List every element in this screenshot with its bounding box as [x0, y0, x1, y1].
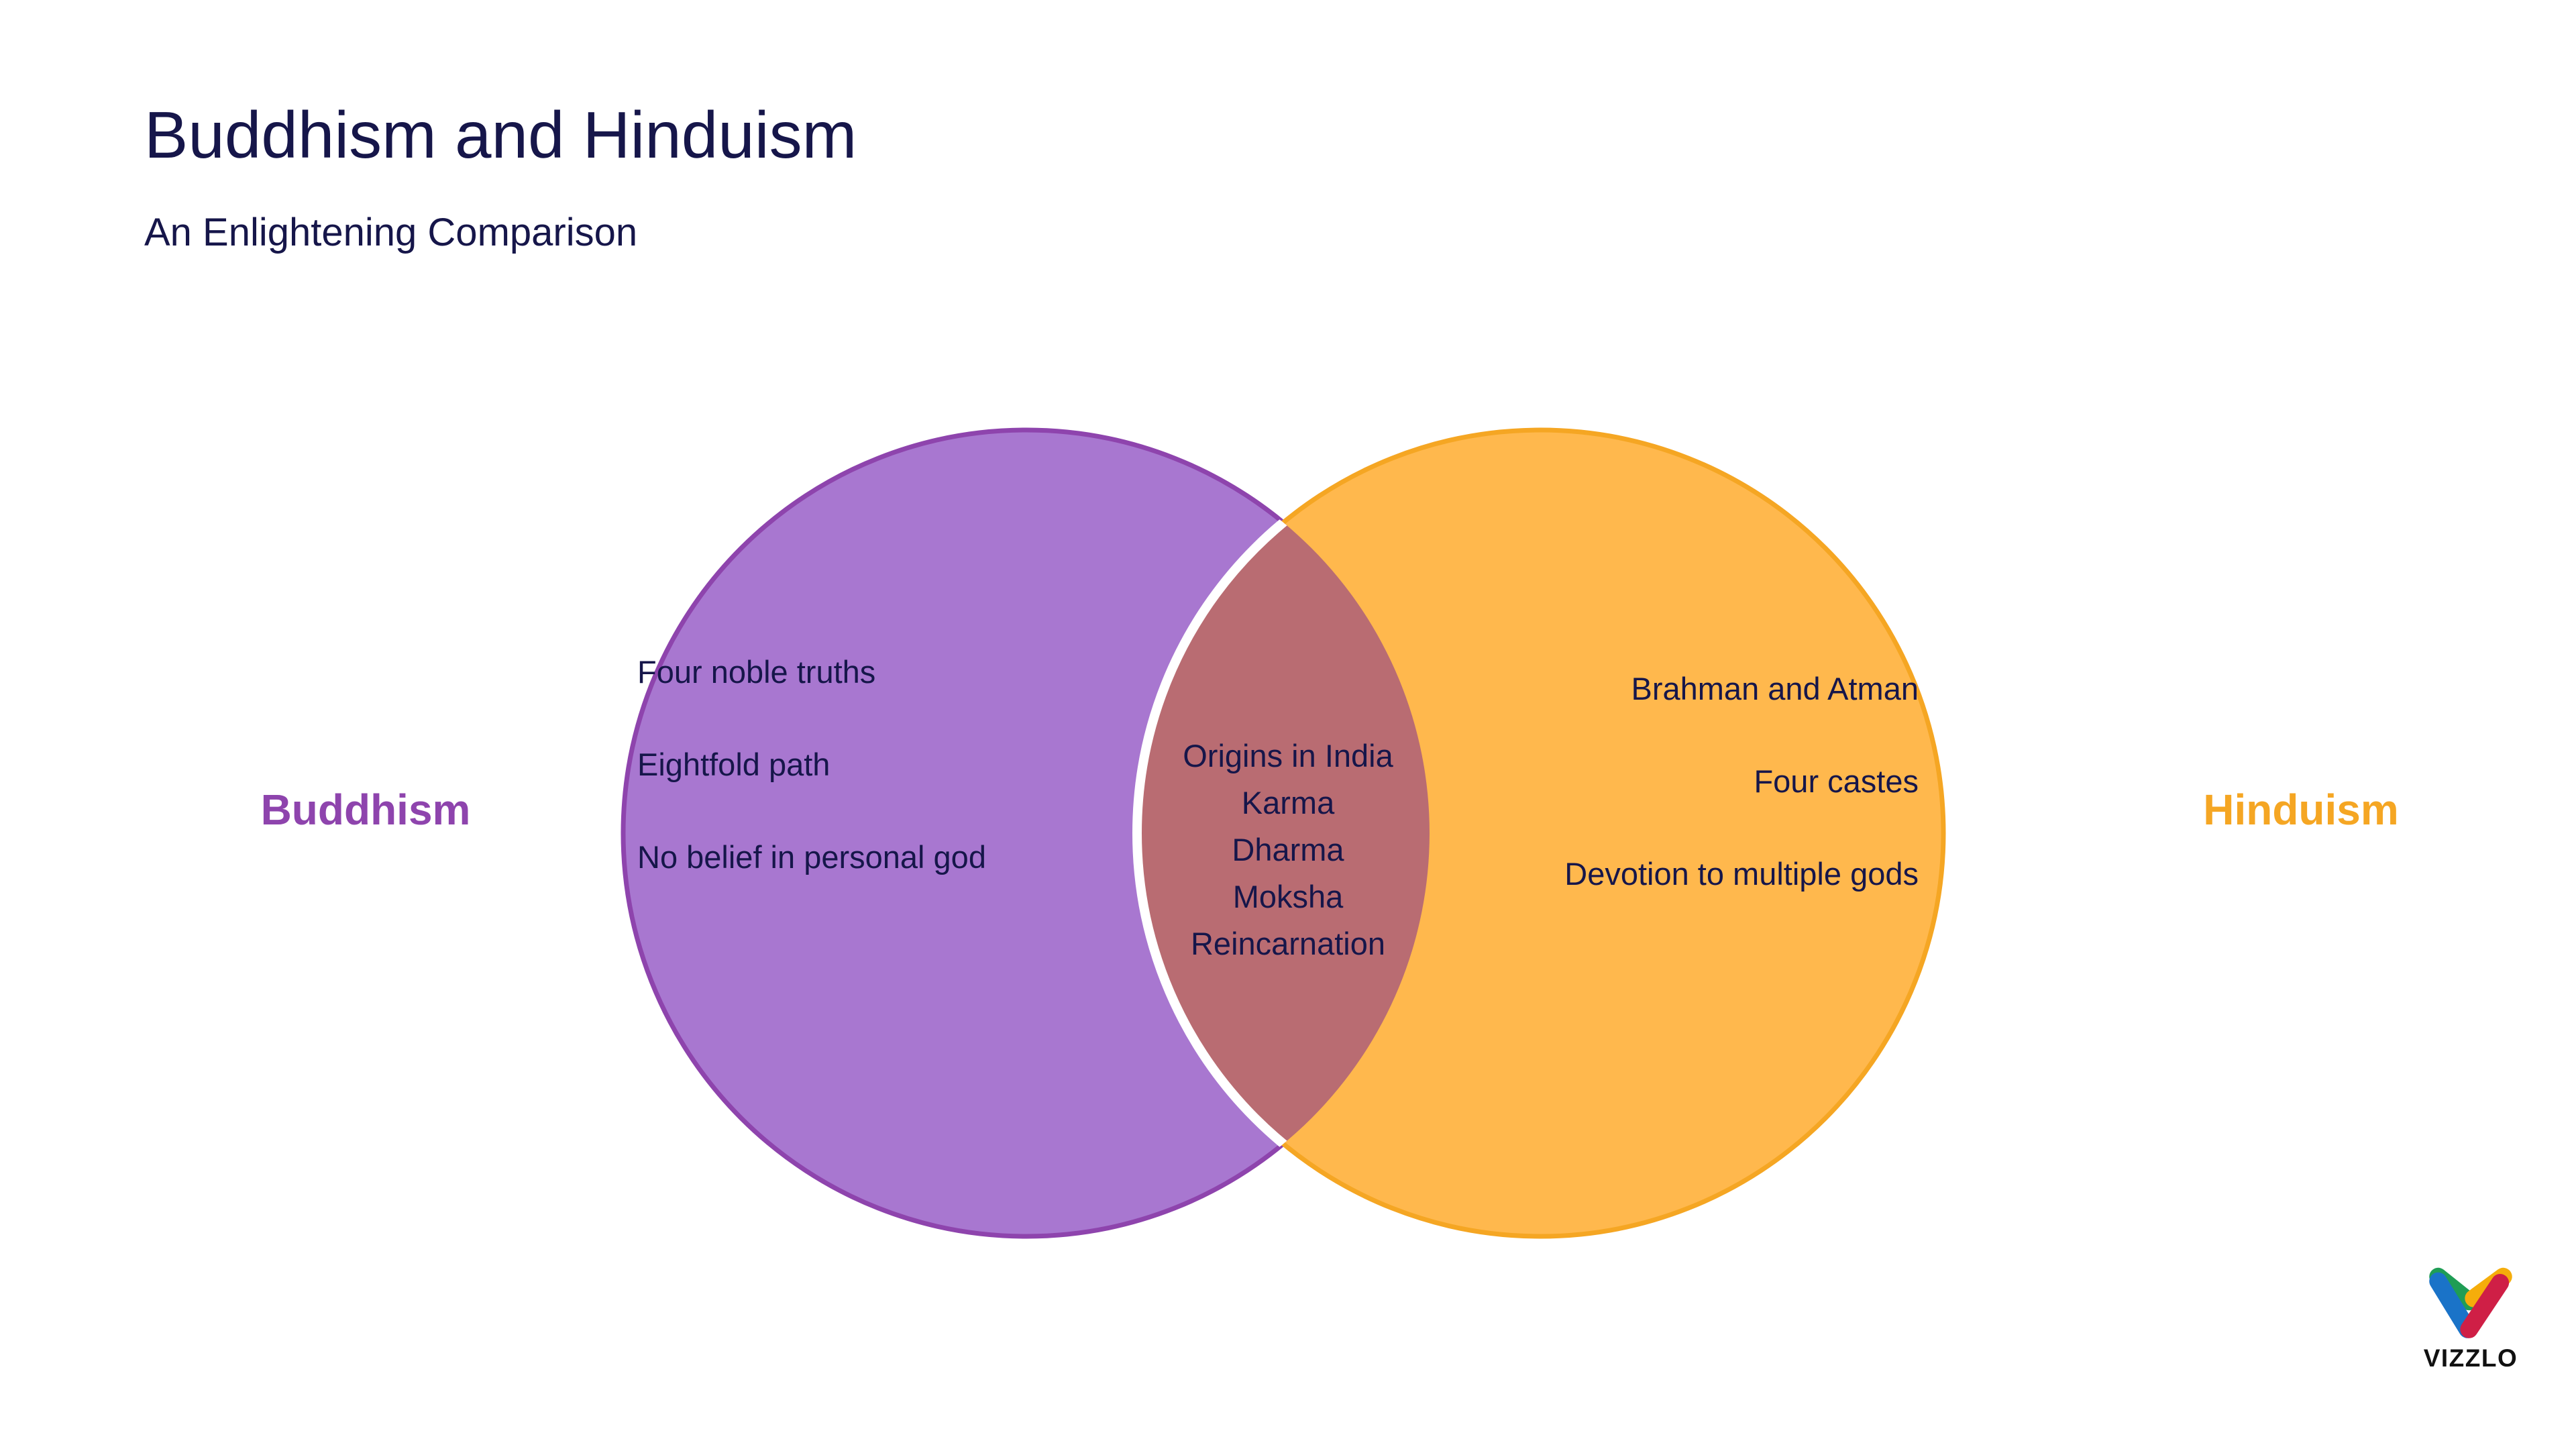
page-subtitle: An Enlightening Comparison [144, 170, 1888, 255]
venn-item-center-4[interactable]: Moksha [1100, 879, 1476, 915]
venn-item-center-1[interactable]: Origins in India [1100, 738, 1476, 774]
venn-item-center-3[interactable]: Dharma [1100, 832, 1476, 868]
venn-item-left-2[interactable]: Eightfold path [637, 747, 1147, 783]
venn-item-right-3[interactable]: Devotion to multiple gods [1449, 856, 1919, 892]
venn-items-right: Brahman and Atman Four castes Devotion t… [1449, 671, 1919, 892]
set-label-hinduism[interactable]: Hinduism [2100, 788, 2502, 831]
venn-item-right-1[interactable]: Brahman and Atman [1449, 671, 1919, 707]
venn-item-left-1[interactable]: Four noble truths [637, 654, 1147, 690]
venn-item-center-5[interactable]: Reincarnation [1100, 926, 1476, 962]
header-block: Buddhism and Hinduism An Enlightening Co… [144, 101, 1888, 255]
venn-item-left-3[interactable]: No belief in personal god [637, 839, 1147, 875]
venn-item-center-2[interactable]: Karma [1100, 785, 1476, 821]
set-label-buddhism[interactable]: Buddhism [151, 788, 580, 831]
vizzlo-logo[interactable]: VIZZLO [2407, 1261, 2534, 1379]
vizzlo-mark-icon [2424, 1261, 2518, 1342]
venn-items-left: Four noble truths Eightfold path No beli… [637, 654, 1147, 875]
vizzlo-wordmark: VIZZLO [2407, 1344, 2534, 1373]
venn-items-intersection: Origins in India Karma Dharma Moksha Rei… [1100, 738, 1476, 962]
venn-item-right-2[interactable]: Four castes [1449, 763, 1919, 800]
page-title: Buddhism and Hinduism [144, 101, 1888, 170]
